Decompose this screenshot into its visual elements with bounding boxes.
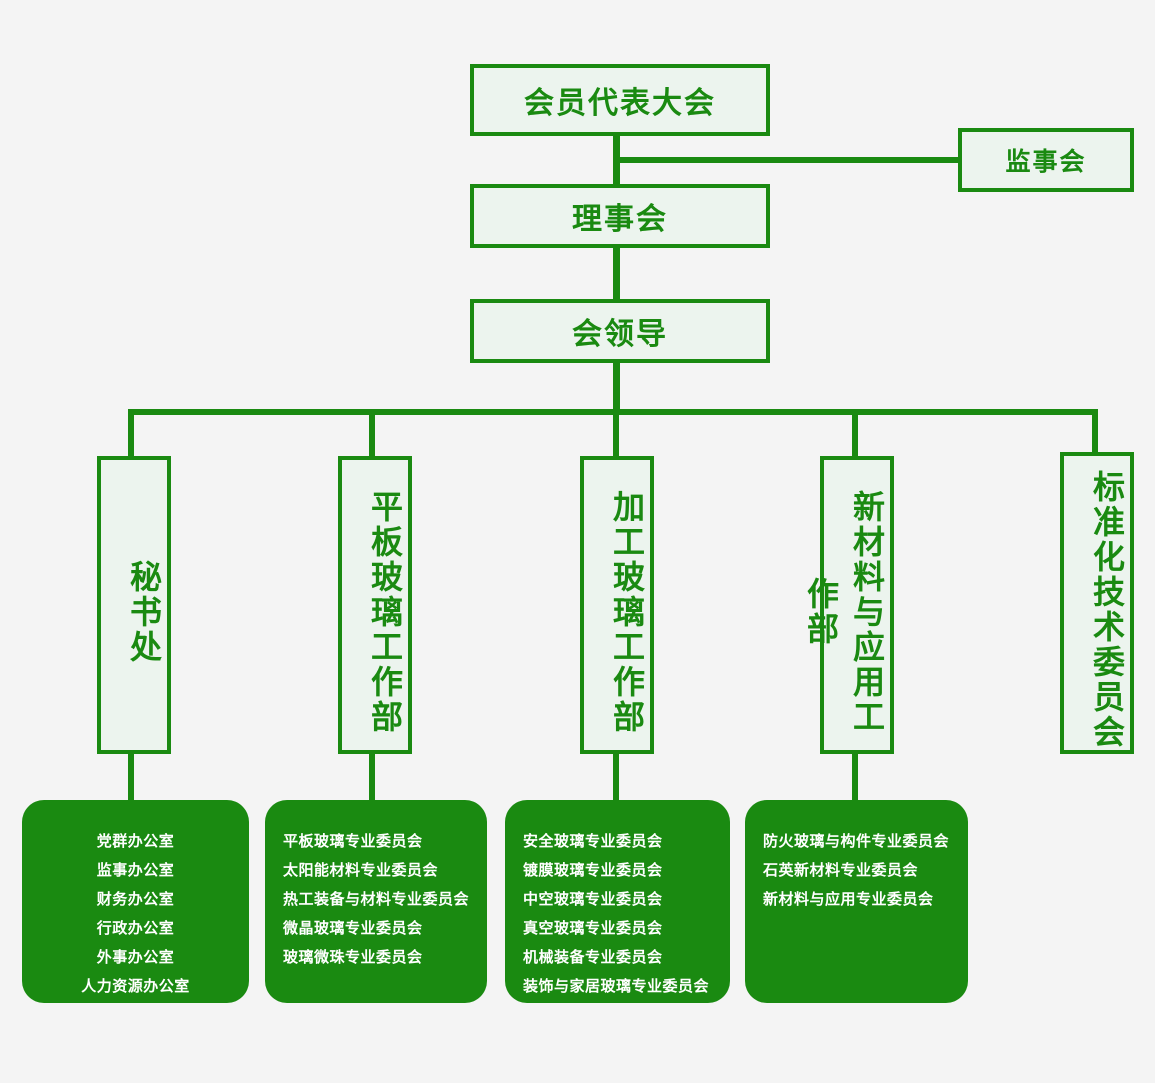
list-item: 中空玻璃专业委员会	[523, 886, 663, 915]
list-item: 玻璃微珠专业委员会	[283, 944, 423, 973]
department-secretariat[interactable]: 秘书处	[97, 456, 171, 754]
panel-new-materials-committees[interactable]: 防火玻璃与构件专业委员会 石英新材料专业委员会 新材料与应用专业委员会	[745, 800, 968, 1003]
connector-drop-new-materials	[852, 409, 858, 458]
connector-leadership-to-bus	[613, 362, 620, 412]
connector-drop-standardization	[1092, 409, 1098, 458]
panel-flat-glass-committees[interactable]: 平板玻璃专业委员会 太阳能材料专业委员会 热工装备与材料专业委员会 微晶玻璃专业…	[265, 800, 487, 1003]
node-leadership[interactable]: 会领导	[470, 299, 770, 363]
connector-drop-secretariat	[128, 409, 134, 458]
connector-council-to-leadership	[613, 248, 620, 300]
department-standardization[interactable]: 标准化技术委员会	[1060, 452, 1134, 754]
org-chart-canvas: 会员代表大会 监事会 理事会 会领导 秘书处 平板玻璃工作部 加工玻璃工作部 新…	[0, 0, 1155, 1083]
department-new-materials[interactable]: 新材料与应用工作部	[820, 456, 894, 754]
node-assembly[interactable]: 会员代表大会	[470, 64, 770, 136]
list-item: 真空玻璃专业委员会	[523, 915, 663, 944]
list-item: 镀膜玻璃专业委员会	[523, 857, 663, 886]
connector-drop-flat-glass	[369, 409, 375, 458]
connector-processed-glass-to-panel	[613, 750, 619, 802]
node-council[interactable]: 理事会	[470, 184, 770, 248]
list-item: 热工装备与材料专业委员会	[283, 886, 469, 915]
list-item: 财务办公室	[97, 886, 175, 915]
department-flat-glass[interactable]: 平板玻璃工作部	[338, 456, 412, 754]
list-item: 防火玻璃与构件专业委员会	[763, 828, 949, 857]
list-item: 党群办公室	[97, 828, 175, 857]
connector-flat-glass-to-panel	[369, 750, 375, 802]
list-item: 行政办公室	[97, 915, 175, 944]
list-item: 石英新材料专业委员会	[763, 857, 918, 886]
list-item: 安全玻璃专业委员会	[523, 828, 663, 857]
list-item: 外事办公室	[97, 944, 175, 973]
panel-secretariat-offices[interactable]: 党群办公室 监事办公室 财务办公室 行政办公室 外事办公室 人力资源办公室	[22, 800, 249, 1003]
list-item: 装饰与家居玻璃专业委员会	[523, 973, 709, 1002]
connector-assembly-to-supervisory	[613, 157, 961, 163]
list-item: 太阳能材料专业委员会	[283, 857, 438, 886]
list-item: 新材料与应用专业委员会	[763, 886, 934, 915]
list-item: 监事办公室	[97, 857, 175, 886]
connector-secretariat-to-panel	[128, 750, 134, 802]
list-item: 人力资源办公室	[81, 973, 190, 1002]
list-item: 平板玻璃专业委员会	[283, 828, 423, 857]
panel-processed-glass-committees[interactable]: 安全玻璃专业委员会 镀膜玻璃专业委员会 中空玻璃专业委员会 真空玻璃专业委员会 …	[505, 800, 730, 1003]
connector-new-materials-to-panel	[852, 750, 858, 802]
list-item: 机械装备专业委员会	[523, 944, 663, 973]
node-supervisory-board[interactable]: 监事会	[958, 128, 1134, 192]
connector-drop-processed-glass	[613, 409, 619, 458]
department-processed-glass[interactable]: 加工玻璃工作部	[580, 456, 654, 754]
list-item: 微晶玻璃专业委员会	[283, 915, 423, 944]
